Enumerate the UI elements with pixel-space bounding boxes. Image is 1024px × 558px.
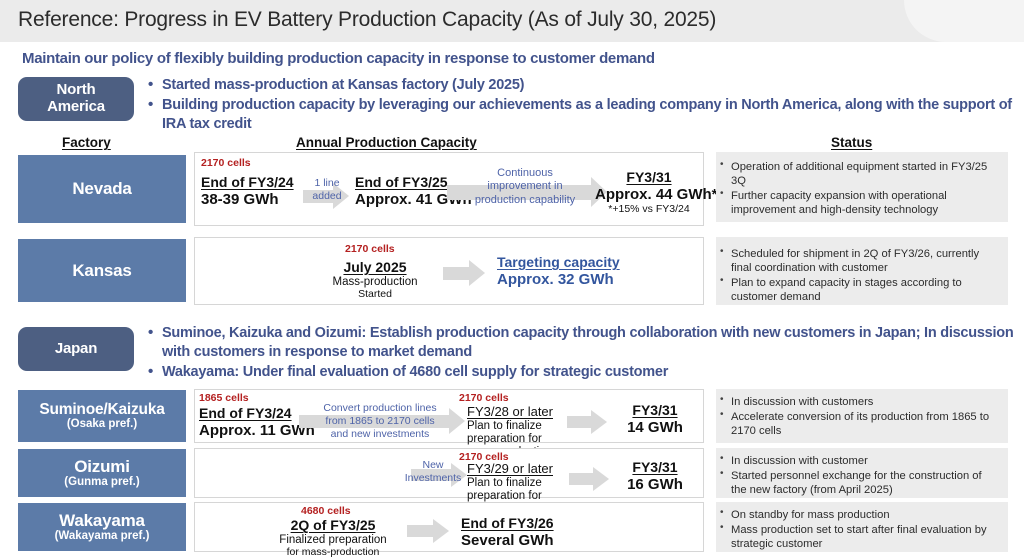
milestone-value: 16 GWh (615, 476, 695, 493)
milestone-nevada-fy331: FY3/31 Approx. 44 GWh* *+15% vs FY3/24 (595, 169, 703, 215)
capacity-cell-wakayama: 4680 cells 2Q of FY3/25 Finalized prepar… (194, 502, 704, 552)
milestone-nevada-fy324: End of FY3/24 38-39 GWh (201, 174, 294, 208)
cell-type-label: 2170 cells (201, 157, 251, 169)
arrow-kansas-to-target (443, 260, 485, 286)
arrow-head (593, 467, 609, 491)
arrow-label-line2: Investments (405, 472, 462, 484)
region-badge-line2: America (47, 98, 105, 115)
region-bullet: Started mass-production at Kansas factor… (148, 76, 1020, 95)
factory-prefecture: (Gunma pref.) (64, 476, 139, 489)
milestone-value: 14 GWh (615, 419, 695, 436)
region-badge-japan: Japan (18, 327, 134, 371)
capacity-cell-oizumi: 2170 cells New Investments FY3/29 or lat… (194, 448, 704, 498)
milestone-date: 2Q of FY3/25 (267, 517, 399, 533)
factory-cell-nevada: Nevada (18, 155, 186, 223)
milestone-value: Several GWh (461, 532, 554, 549)
column-header-status: Status (831, 135, 872, 150)
status-cell-kansas: Scheduled for shipment in 2Q of FY3/26, … (716, 237, 1008, 305)
factory-cell-wakayama: Wakayama (Wakayama pref.) (18, 503, 186, 551)
title-bar: Reference: Progress in EV Battery Produc… (0, 0, 1024, 42)
milestone-kansas-target: Targeting capacity Approx. 32 GWh (497, 254, 620, 288)
factory-cell-oizumi: Oizumi (Gunma pref.) (18, 449, 186, 497)
cell-type-label: 4680 cells (301, 505, 351, 517)
title-bar-corner-decoration (904, 0, 1024, 42)
region-bullet: Suminoe, Kaizuka and Oizumi: Establish p… (148, 324, 1020, 362)
factory-name: Oizumi (74, 457, 129, 476)
milestone-value: Finalized preparation (267, 534, 399, 546)
factory-name: Kansas (72, 261, 131, 280)
cell-type-label: 2170 cells (345, 243, 395, 255)
milestone-suminoe-fy331: FY3/31 14 GWh (615, 402, 695, 436)
milestone-date: FY3/31 (595, 169, 703, 185)
slide-root: Reference: Progress in EV Battery Produc… (0, 0, 1024, 558)
region-badge-line1: Japan (55, 341, 97, 358)
milestone-value: Mass-production (315, 276, 435, 288)
status-bullet: Mass production set to start after final… (718, 523, 1000, 551)
milestone-value: Approx. 32 GWh (497, 271, 620, 288)
milestone-note: for mass-production (267, 546, 399, 558)
cell-type-label-2170: 2170 cells (459, 392, 509, 404)
status-bullet: On standby for mass production (718, 508, 1000, 522)
region-bullet: Wakayama: Under final evaluation of 4680… (148, 363, 1020, 382)
arrow-suminoe-to-fy331 (567, 410, 607, 434)
status-bullet: Scheduled for shipment in 2Q of FY3/26, … (718, 247, 1000, 275)
status-bullet: Accelerate conversion of its production … (718, 410, 1000, 438)
factory-name: Nevada (72, 179, 131, 198)
milestone-date: End of FY3/26 (461, 515, 554, 531)
arrow-head (591, 410, 607, 434)
region-badge-line1: North (57, 81, 96, 98)
status-bullet: In discussion with customers (718, 395, 1000, 409)
milestone-kansas-july2025: July 2025 Mass-production Started (315, 259, 435, 300)
milestone-value: Approx. 44 GWh* (595, 186, 703, 203)
milestone-wakayama-fy326: End of FY3/26 Several GWh (461, 515, 554, 549)
status-bullet: Plan to expand capacity in stages accord… (718, 276, 1000, 304)
status-bullet: Started personnel exchange for the const… (718, 469, 1000, 497)
arrow-shaft (569, 473, 593, 485)
status-bullet: In discussion with customer (718, 454, 1000, 468)
arrow-label-line2: added (312, 190, 341, 202)
milestone-date: End of FY3/24 (199, 405, 315, 421)
milestone-date: July 2025 (315, 259, 435, 275)
region-badge-north-america: North America (18, 77, 134, 121)
milestone-note: Started (315, 288, 435, 300)
page-title: Reference: Progress in EV Battery Produc… (18, 8, 716, 32)
arrow-label-line2: improvement in (487, 180, 562, 192)
arrow-label-convert-production-lines: Convert production lines from 1865 to 21… (299, 402, 461, 440)
column-header-factory: Factory (62, 135, 111, 150)
arrow-shaft (407, 525, 433, 537)
arrow-head (469, 260, 485, 286)
status-bullet: Operation of additional equipment starte… (718, 160, 1000, 188)
column-header-capacity: Annual Production Capacity (296, 135, 477, 150)
status-bullet: Further capacity expansion with operatio… (718, 189, 1000, 217)
milestone-oizumi-fy331: FY3/31 16 GWh (615, 459, 695, 493)
milestone-value: Approx. 11 GWh (199, 422, 315, 439)
factory-name: Wakayama (59, 511, 145, 530)
arrow-label-line1: Continuous (497, 167, 553, 179)
status-cell-wakayama: On standby for mass production Mass prod… (716, 502, 1008, 552)
milestone-value: 38-39 GWh (201, 191, 294, 208)
milestone-date: FY3/28 or later (467, 404, 559, 419)
milestone-note: *+15% vs FY3/24 (595, 203, 703, 215)
arrow-head (433, 519, 449, 543)
arrow-label-line2: from 1865 to 2170 cells (325, 415, 434, 427)
milestone-date: FY3/31 (615, 459, 695, 475)
factory-cell-kansas: Kansas (18, 239, 186, 302)
region-bullets-north-america: Started mass-production at Kansas factor… (148, 76, 1020, 135)
arrow-label-line1: Convert production lines (323, 402, 436, 414)
milestone-date: FY3/31 (615, 402, 695, 418)
arrow-label-line1: 1 line (314, 177, 339, 189)
arrow-label-line1: New (422, 459, 443, 471)
status-cell-oizumi: In discussion with customer Started pers… (716, 448, 1008, 498)
arrow-shaft (443, 267, 469, 280)
arrow-shaft (567, 416, 591, 428)
region-bullet: Building production capacity by leveragi… (148, 96, 1020, 134)
arrow-label-new-investments: New Investments (397, 459, 469, 485)
policy-statement: Maintain our policy of flexibly building… (22, 50, 655, 67)
capacity-cell-kansas: 2170 cells July 2025 Mass-production Sta… (194, 237, 704, 305)
capacity-cell-suminoe-kaizuka: 1865 cells 2170 cells End of FY3/24 Appr… (194, 389, 704, 443)
arrow-label-line3: production capability (475, 194, 575, 206)
factory-prefecture: (Wakayama pref.) (55, 530, 150, 543)
arrow-wakayama-to-fy326 (407, 519, 449, 543)
arrow-label-line3: and new investments (331, 428, 430, 440)
status-cell-nevada: Operation of additional equipment starte… (716, 152, 1008, 222)
region-bullets-japan: Suminoe, Kaizuka and Oizumi: Establish p… (148, 324, 1020, 383)
cell-type-label-1865: 1865 cells (199, 392, 249, 404)
milestone-suminoe-fy324: End of FY3/24 Approx. 11 GWh (199, 405, 315, 439)
status-cell-suminoe-kaizuka: In discussion with customers Accelerate … (716, 389, 1008, 443)
factory-cell-suminoe-kaizuka: Suminoe/Kaizuka (Osaka pref.) (18, 390, 186, 442)
factory-name: Suminoe/Kaizuka (39, 401, 164, 418)
arrow-label-1-line-added: 1 line added (299, 177, 355, 203)
factory-prefecture: (Osaka pref.) (67, 418, 137, 431)
capacity-cell-nevada: 2170 cells End of FY3/24 38-39 GWh 1 lin… (194, 152, 704, 226)
milestone-date: Targeting capacity (497, 254, 620, 270)
arrow-label-continuous-improvement: Continuous improvement in production cap… (445, 167, 605, 207)
milestone-wakayama-2q-fy325: 2Q of FY3/25 Finalized preparation for m… (267, 517, 399, 558)
arrow-oizumi-to-fy331 (569, 467, 609, 491)
milestone-date: End of FY3/24 (201, 174, 294, 190)
milestone-date: FY3/29 or later (467, 461, 559, 476)
